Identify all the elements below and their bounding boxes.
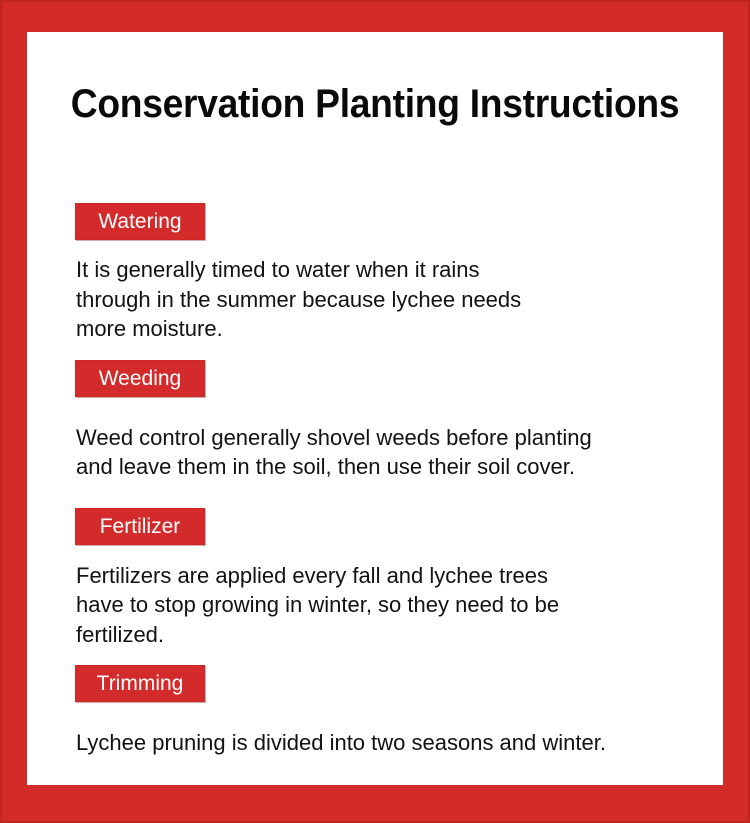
section-badge-watering: Watering — [75, 203, 205, 240]
poster-root: Conservation Planting Instructions Water… — [0, 0, 750, 823]
section-body-watering: It is generally timed to water when it r… — [75, 255, 715, 344]
section-weeding: Weeding Weed control generally shovel we… — [75, 360, 715, 482]
section-body-weeding: Weed control generally shovel weeds befo… — [75, 423, 715, 482]
section-badge-weeding: Weeding — [75, 360, 205, 397]
section-badge-trimming: Trimming — [75, 665, 205, 702]
section-body-fertilizer: Fertilizers are applied every fall and l… — [75, 561, 715, 650]
section-trimming: Trimming Lychee pruning is divided into … — [75, 665, 715, 758]
section-body-trimming: Lychee pruning is divided into two seaso… — [75, 728, 715, 758]
sections-list: Watering It is generally timed to water … — [75, 203, 715, 758]
page-title: Conservation Planting Instructions — [51, 82, 698, 126]
section-watering: Watering It is generally timed to water … — [75, 203, 715, 344]
content-panel: Conservation Planting Instructions Water… — [27, 32, 723, 785]
section-fertilizer: Fertilizer Fertilizers are applied every… — [75, 508, 715, 650]
section-badge-fertilizer: Fertilizer — [75, 508, 205, 545]
